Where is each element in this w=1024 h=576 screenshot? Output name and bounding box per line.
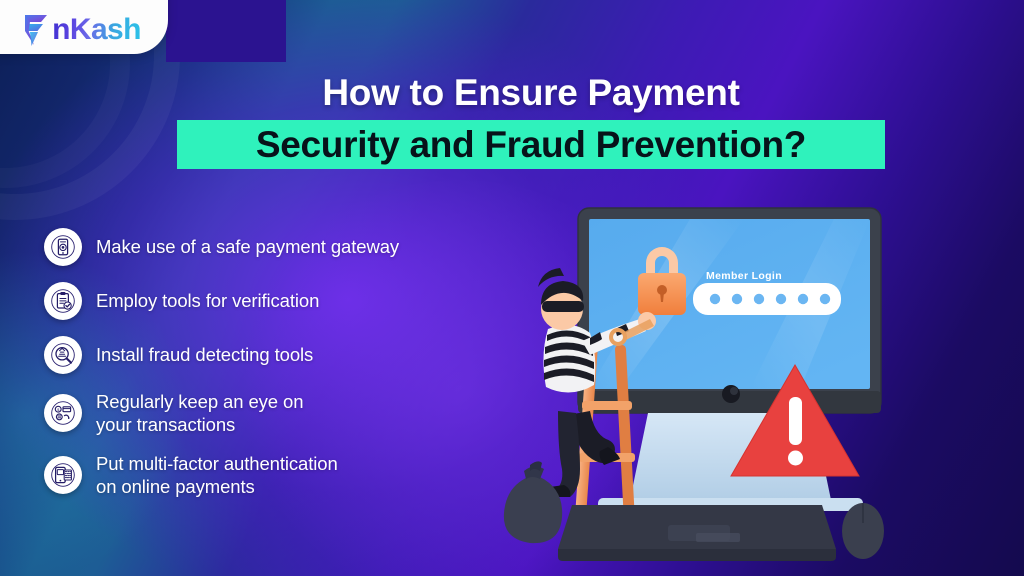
title-highlight-bar: Security and Fraud Prevention? xyxy=(177,120,885,169)
brand-logo[interactable]: nKash xyxy=(0,0,168,54)
infographic-canvas: nKash How to Ensure Payment Security and… xyxy=(0,0,1024,576)
mobile-otp-icon xyxy=(44,456,82,494)
list-item-label: Make use of a safe payment gateway xyxy=(96,235,399,258)
logo-wrap: nKash xyxy=(0,13,141,47)
list-item[interactable]: Make use of a safe payment gateway xyxy=(44,228,514,266)
rupee-e-mark-icon xyxy=(21,13,51,47)
stand-dot xyxy=(722,385,740,403)
list-item-label: Employ tools for verification xyxy=(96,289,319,312)
list-item-label: Put multi-factor authentication on onlin… xyxy=(96,452,338,499)
magnifier-fraud-icon xyxy=(44,336,82,374)
panel-rounded-corner xyxy=(166,0,286,62)
page-title: How to Ensure Payment Security and Fraud… xyxy=(177,72,897,169)
transaction-monitor-icon: $ xyxy=(44,394,82,432)
list-item-label: Regularly keep an eye on your transactio… xyxy=(96,390,303,437)
clipboard-check-icon xyxy=(44,282,82,320)
thief-stealing-password-illustration: Member Login xyxy=(500,195,930,576)
keyboard xyxy=(558,505,836,561)
list-item-label: Install fraud detecting tools xyxy=(96,343,313,366)
smartphone-payment-icon xyxy=(44,228,82,266)
computer-mouse xyxy=(842,503,884,559)
tips-list: Make use of a safe payment gateway Emplo… xyxy=(44,228,514,514)
title-line-1: How to Ensure Payment xyxy=(177,72,885,113)
title-line-2: Security and Fraud Prevention? xyxy=(256,126,806,163)
list-item[interactable]: Install fraud detecting tools xyxy=(44,336,514,374)
list-item[interactable]: $ Regularly keep an eye on your transact… xyxy=(44,390,514,437)
logo-text: nKash xyxy=(52,15,141,45)
list-item[interactable]: Put multi-factor authentication on onlin… xyxy=(44,452,514,499)
list-item[interactable]: Employ tools for verification xyxy=(44,282,514,320)
